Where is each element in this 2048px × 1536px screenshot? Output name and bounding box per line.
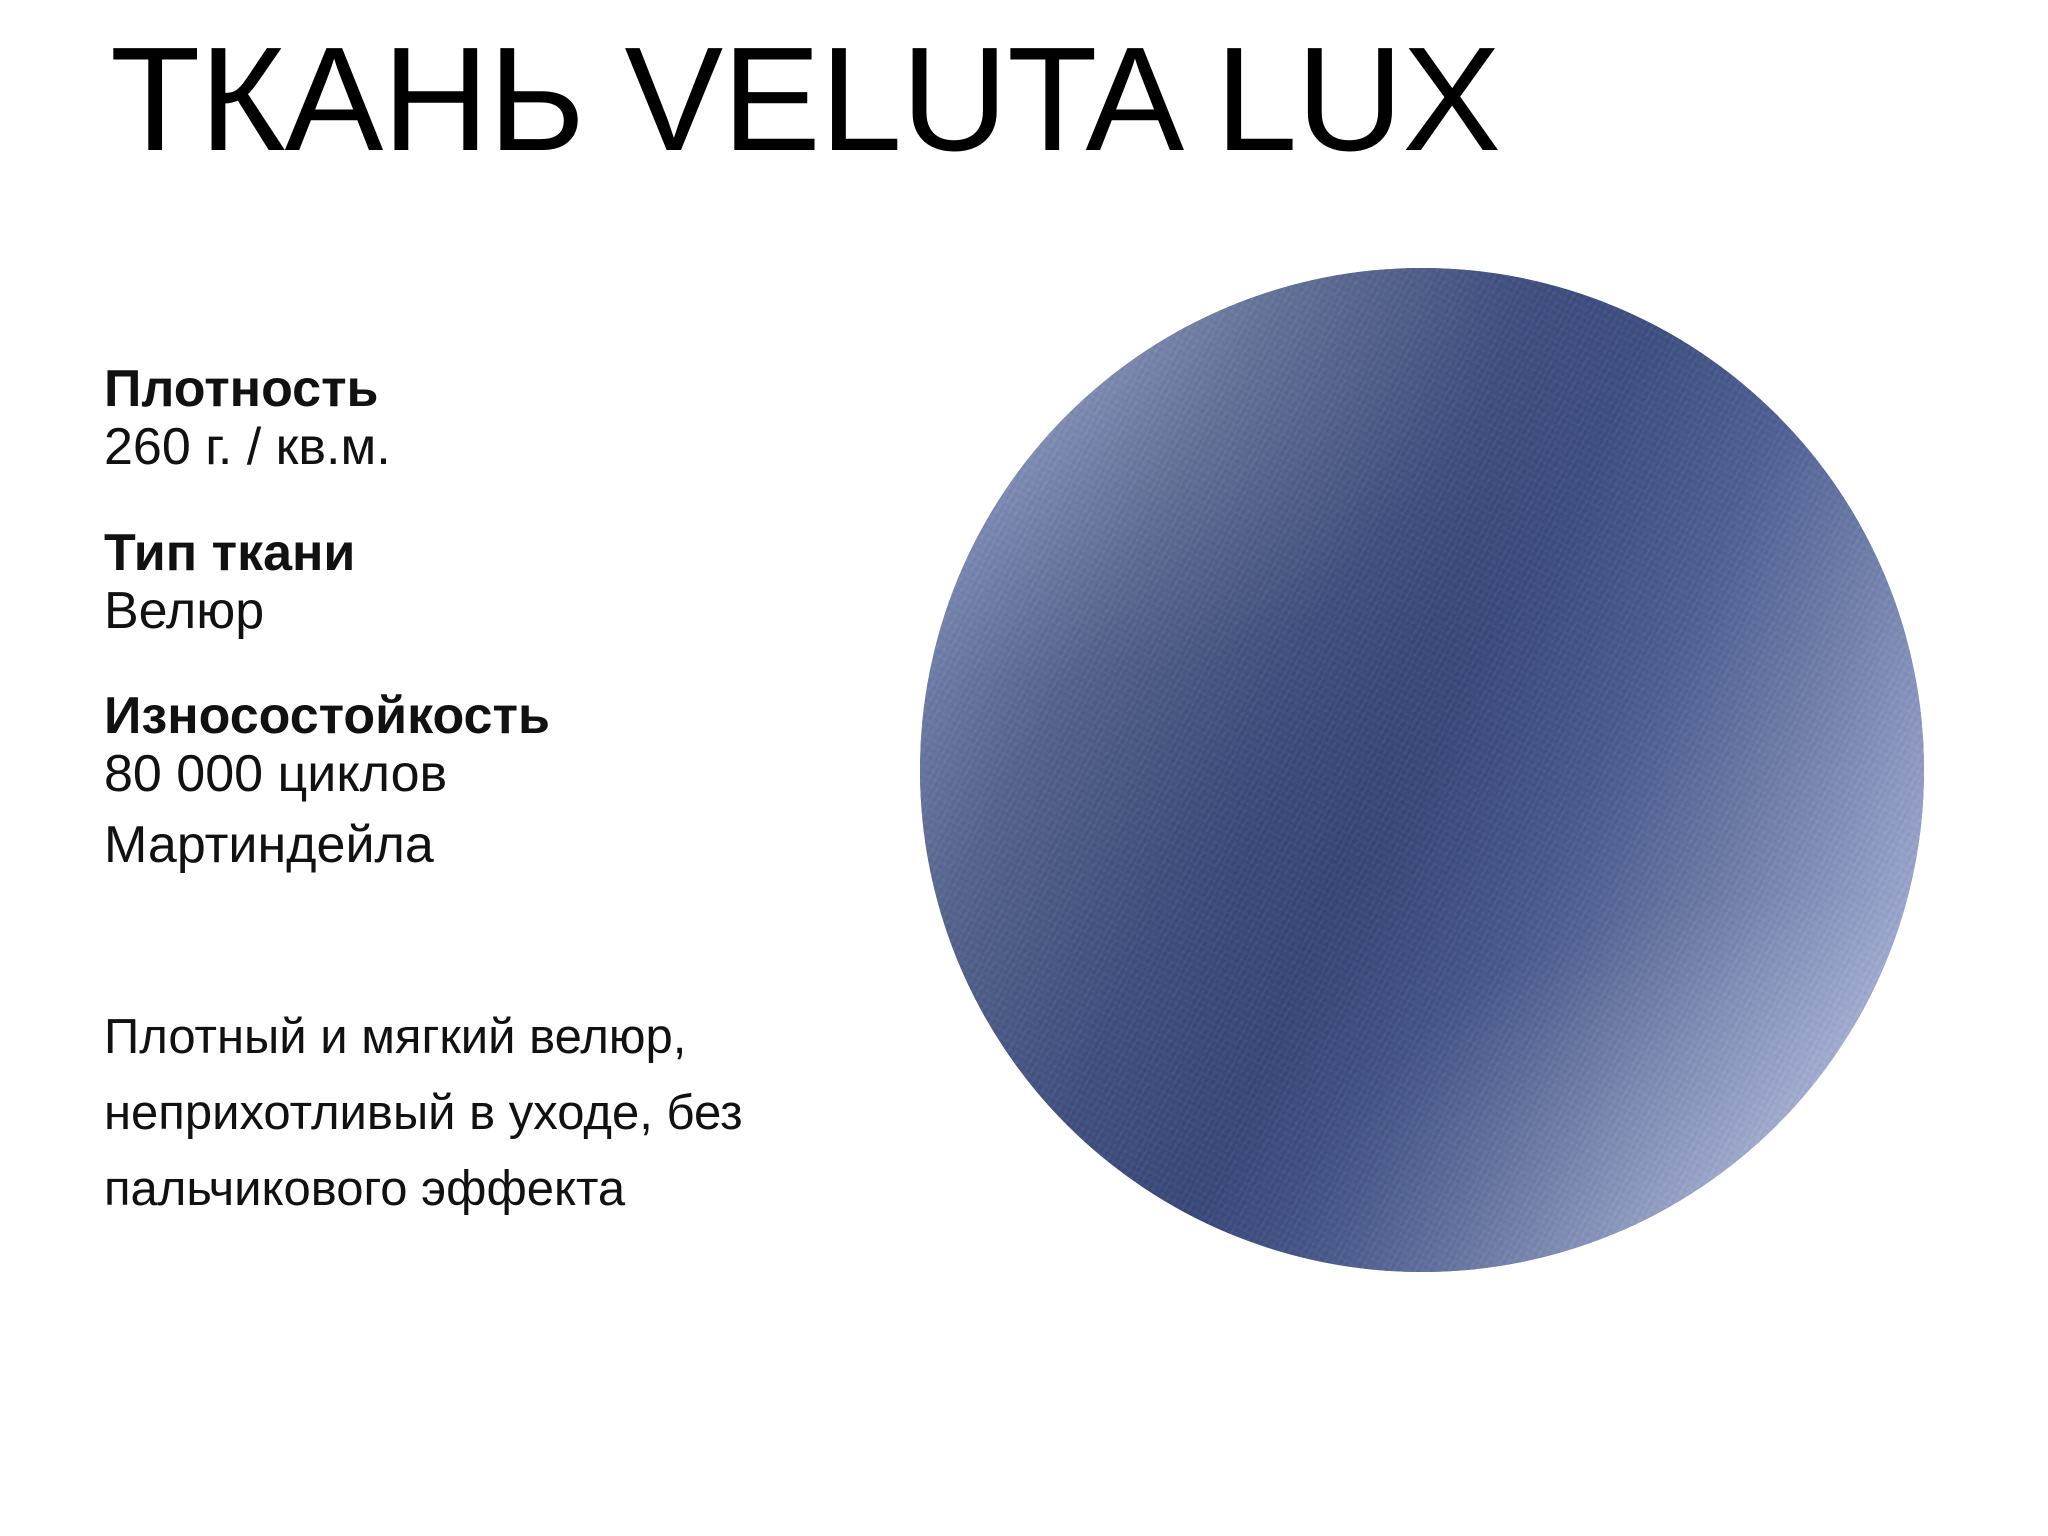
description-line-2: неприхотливый в уходе, без [104, 1076, 904, 1152]
fabric-edge-vignette [920, 268, 1924, 1272]
spec-item-durability: Износостойкость 80 000 циклов Мартиндейл… [104, 687, 924, 885]
spec-label-density: Плотность [104, 360, 924, 418]
spec-label-durability: Износостойкость [104, 687, 924, 745]
spec-item-fabric-type: Тип ткани Велюр [104, 524, 924, 642]
description-paragraph: Плотный и мягкий велюр, неприхотливый в … [104, 1000, 904, 1228]
description-line-1: Плотный и мягкий велюр, [104, 1000, 904, 1076]
spec-value-density: 260 г. / кв.м. [104, 418, 924, 477]
spec-list: Плотность 260 г. / кв.м. Тип ткани Велюр… [104, 360, 924, 885]
page-title: ТКАНЬ VELUTA LUX [110, 26, 1500, 174]
spec-value-durability: 80 000 циклов [104, 745, 924, 804]
spec-value-fabric-type: Велюр [104, 582, 924, 641]
fabric-swatch-circle [920, 268, 1924, 1272]
spec-label-fabric-type: Тип ткани [104, 524, 924, 582]
spec-value-durability-unit: Мартиндейла [104, 805, 924, 886]
spec-item-density: Плотность 260 г. / кв.м. [104, 360, 924, 478]
poster-canvas: ТКАНЬ VELUTA LUX Плотность 260 г. / кв.м… [0, 0, 2048, 1536]
description-line-3: пальчикового эффекта [104, 1152, 904, 1228]
